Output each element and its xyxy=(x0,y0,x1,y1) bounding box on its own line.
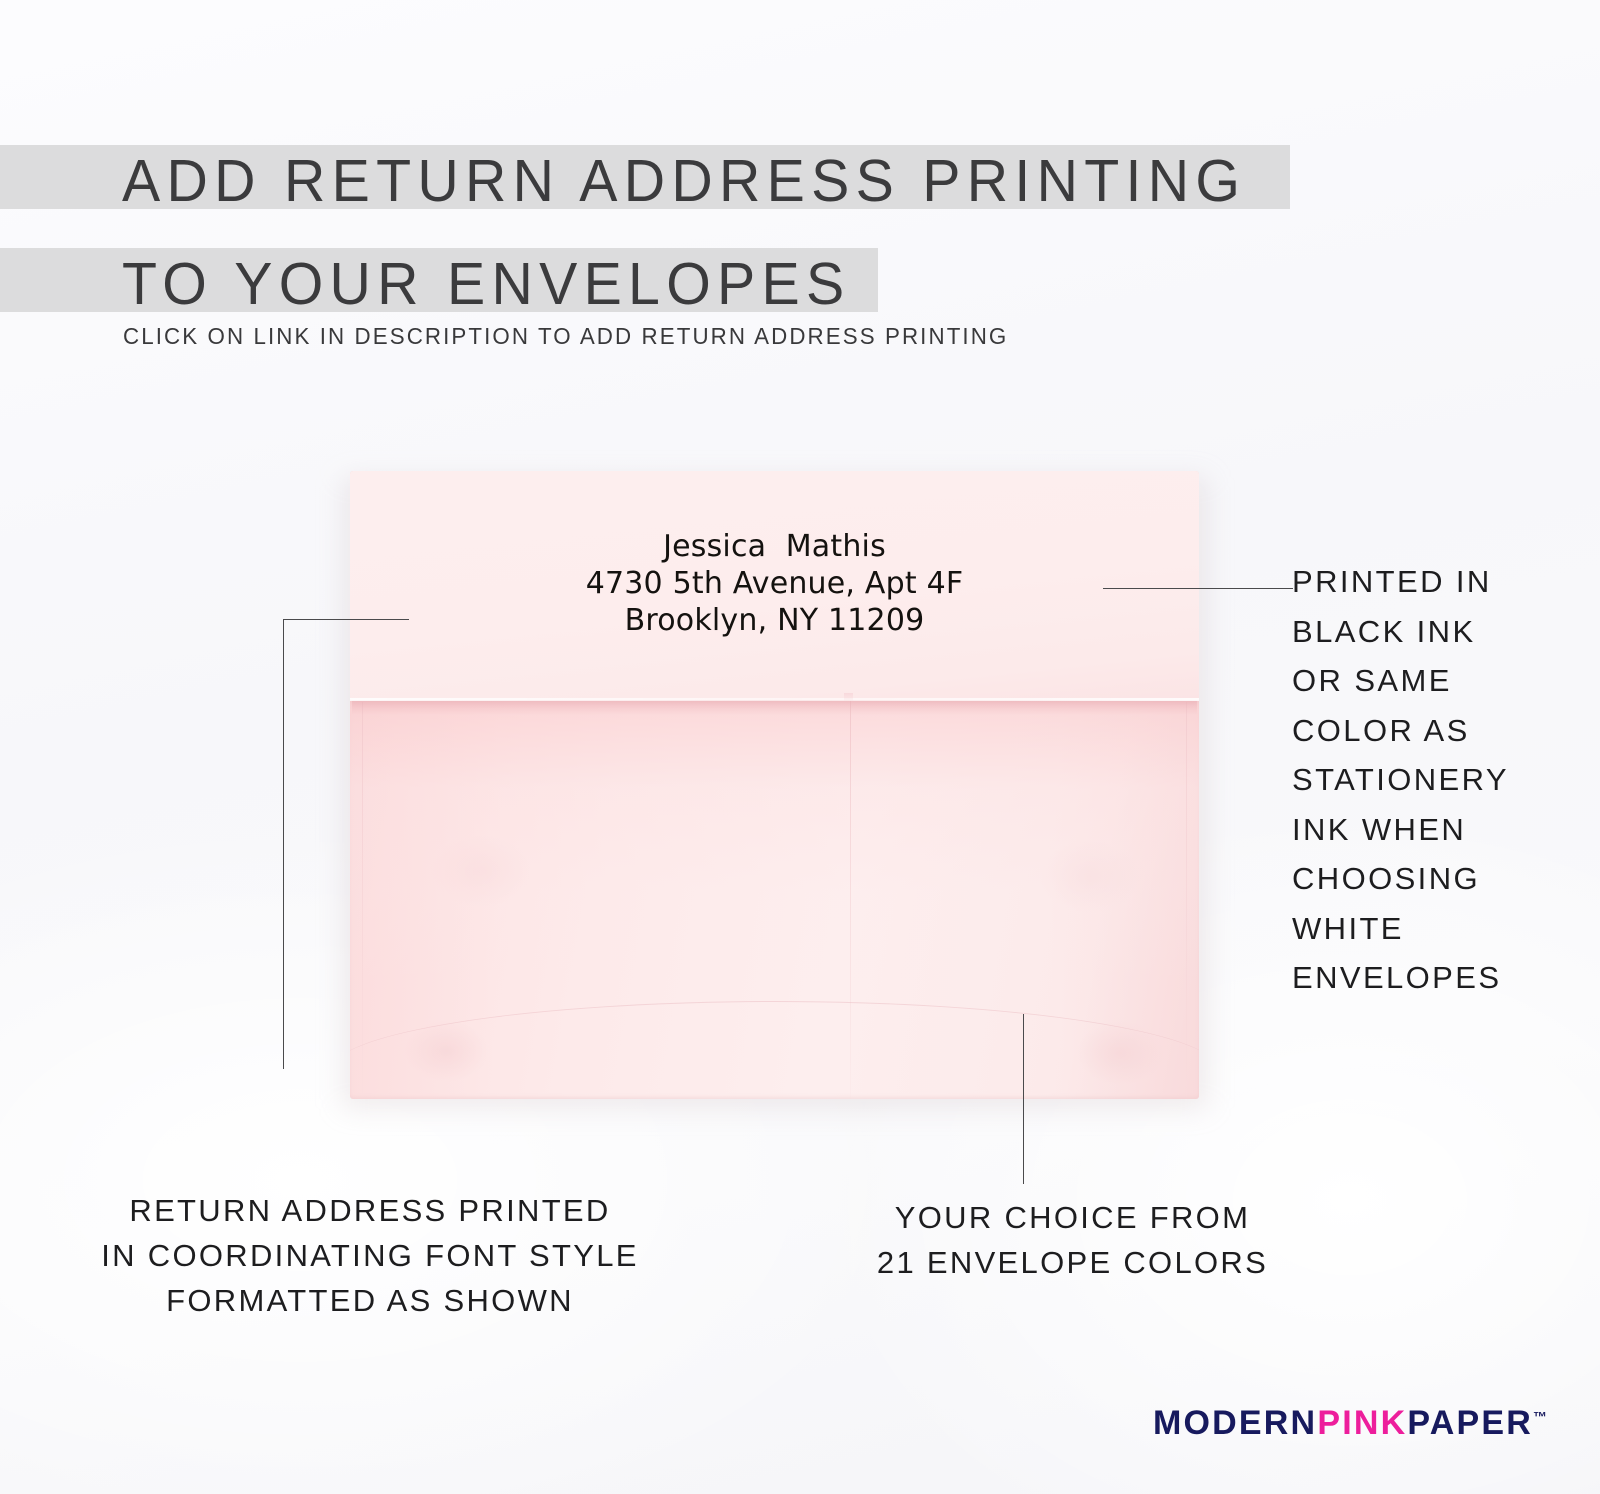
brand-logo: MODERNPINKPAPER™ xyxy=(1153,1404,1547,1443)
callout-bottom-center-line-2: 21 ENVELOPE COLORS xyxy=(845,1240,1300,1285)
title-line-2: TO YOUR ENVELOPES xyxy=(0,242,1600,326)
callout-bottom-left-line-1: RETURN ADDRESS PRINTED xyxy=(60,1188,680,1233)
leader-line-right xyxy=(1103,588,1293,589)
page-title: ADD RETURN ADDRESS PRINTING TO YOUR ENVE… xyxy=(0,139,1600,326)
callout-right-line-1: PRINTED IN xyxy=(1292,557,1592,607)
envelope-flap-notch xyxy=(844,693,853,702)
callout-right-line-9: ENVELOPES xyxy=(1292,953,1592,1003)
envelope-image: Jessica Mathis 4730 5th Avenue, Apt 4F B… xyxy=(350,471,1199,1101)
callout-printed-in-black-ink: PRINTED IN BLACK INK OR SAME COLOR AS ST… xyxy=(1292,557,1592,1003)
return-address-line-3: Brooklyn, NY 11209 xyxy=(350,602,1199,639)
callout-bottom-left-line-2: IN COORDINATING FONT STYLE xyxy=(60,1233,680,1278)
callout-envelope-colors: YOUR CHOICE FROM 21 ENVELOPE COLORS xyxy=(845,1195,1300,1285)
callout-right-line-2: BLACK INK xyxy=(1292,607,1592,657)
callout-bottom-center-line-1: YOUR CHOICE FROM xyxy=(845,1195,1300,1240)
logo-text-modern: MODERN xyxy=(1153,1404,1317,1442)
return-address-block: Jessica Mathis 4730 5th Avenue, Apt 4F B… xyxy=(350,528,1199,639)
trademark-symbol: ™ xyxy=(1533,1409,1548,1425)
callout-bottom-left-line-3: FORMATTED AS SHOWN xyxy=(60,1278,680,1323)
callout-right-line-5: STATIONERY xyxy=(1292,755,1592,805)
callout-right-line-4: COLOR AS xyxy=(1292,706,1592,756)
envelope-flap-shadow xyxy=(352,701,1197,715)
infographic-canvas: ADD RETURN ADDRESS PRINTING TO YOUR ENVE… xyxy=(0,0,1600,1494)
callout-right-line-6: INK WHEN xyxy=(1292,805,1592,855)
leader-line-center-vertical xyxy=(1023,1014,1024,1184)
callout-right-line-7: CHOOSING xyxy=(1292,854,1592,904)
callout-return-address-font-style: RETURN ADDRESS PRINTED IN COORDINATING F… xyxy=(60,1188,680,1323)
subtitle: CLICK ON LINK IN DESCRIPTION TO ADD RETU… xyxy=(123,323,1008,350)
return-address-line-2: 4730 5th Avenue, Apt 4F xyxy=(350,565,1199,602)
title-line-1: ADD RETURN ADDRESS PRINTING xyxy=(0,139,1600,223)
return-address-line-1: Jessica Mathis xyxy=(350,528,1199,565)
logo-text-paper: PAPER xyxy=(1407,1404,1533,1442)
envelope-right-fold xyxy=(1186,702,1187,1098)
envelope-body: Jessica Mathis 4730 5th Avenue, Apt 4F B… xyxy=(350,471,1199,1099)
title-text-1: ADD RETURN ADDRESS PRINTING xyxy=(122,139,1246,223)
envelope-left-fold xyxy=(362,702,363,1098)
leader-line-left-vertical xyxy=(283,619,284,1069)
callout-right-line-8: WHITE xyxy=(1292,904,1592,954)
leader-line-left-horizontal xyxy=(283,619,409,620)
callout-right-line-3: OR SAME xyxy=(1292,656,1592,706)
logo-text-pink: PINK xyxy=(1317,1404,1407,1442)
title-text-2: TO YOUR ENVELOPES xyxy=(122,242,850,326)
